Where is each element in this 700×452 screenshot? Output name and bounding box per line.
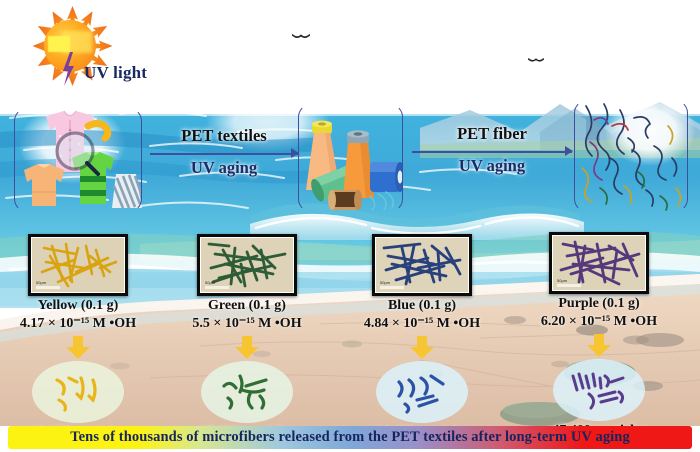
sample-column-yellow: 50μm Yellow (0.1 g) 4.17 × 10⁻¹⁵ M •OH (0, 234, 164, 441)
samples-row: 50μm Yellow (0.1 g) 4.17 × 10⁻¹⁵ M •OH (0, 0, 700, 452)
down-arrow-icon-yellow (65, 336, 91, 360)
down-arrow-icon-green (234, 336, 260, 360)
scale-bar-blue (380, 286, 404, 289)
sample-column-blue: 50μm Blue (0.1 g) 4.84 × 10⁻¹⁵ M •OH (336, 234, 508, 441)
particle-bubble-yellow (32, 361, 124, 423)
sample-name-green: Green (0.1 g) (161, 298, 333, 314)
graphical-abstract: UV light (0, 0, 700, 452)
sample-oh-purple: 6.20 × 10⁻¹⁵ M •OH (513, 313, 685, 330)
scale-bar-yellow (36, 286, 60, 289)
scale-text-green: 50μm (205, 280, 215, 285)
down-arrow-icon-blue (409, 336, 435, 360)
sample-name-blue: Blue (0.1 g) (336, 298, 508, 314)
sample-column-purple: 50μm Purple (0.1 g) 6.20 × 10⁻¹⁵ M •OH (513, 232, 685, 439)
scale-text-blue: 50μm (380, 280, 390, 285)
micrograph-yellow: 50μm (28, 234, 128, 296)
down-arrow-icon-purple (586, 334, 612, 358)
micrograph-purple: 50μm (549, 232, 649, 294)
conclusion-banner: Tens of thousands of microfibers release… (8, 426, 692, 449)
particle-bubble-purple (553, 359, 645, 421)
conclusion-banner-text: Tens of thousands of microfibers release… (70, 429, 630, 446)
sample-oh-blue: 4.84 × 10⁻¹⁵ M •OH (336, 315, 508, 332)
scale-bar-purple (557, 284, 581, 287)
micrograph-blue: 50μm (372, 234, 472, 296)
sample-oh-green: 5.5 × 10⁻¹⁵ M •OH (161, 315, 333, 332)
scale-text-yellow: 50μm (36, 280, 46, 285)
particle-bubble-blue (376, 361, 468, 423)
micrograph-green: 50μm (197, 234, 297, 296)
sample-oh-yellow: 4.17 × 10⁻¹⁵ M •OH (0, 315, 164, 332)
sample-name-purple: Purple (0.1 g) (513, 296, 685, 312)
sample-name-yellow: Yellow (0.1 g) (0, 298, 164, 314)
particle-bubble-green (201, 361, 293, 423)
sample-column-green: 50μm Green (0.1 g) 5.5 × 10⁻¹⁵ M •OH (161, 234, 333, 441)
scale-bar-green (205, 286, 229, 289)
scale-text-purple: 50μm (557, 278, 567, 283)
